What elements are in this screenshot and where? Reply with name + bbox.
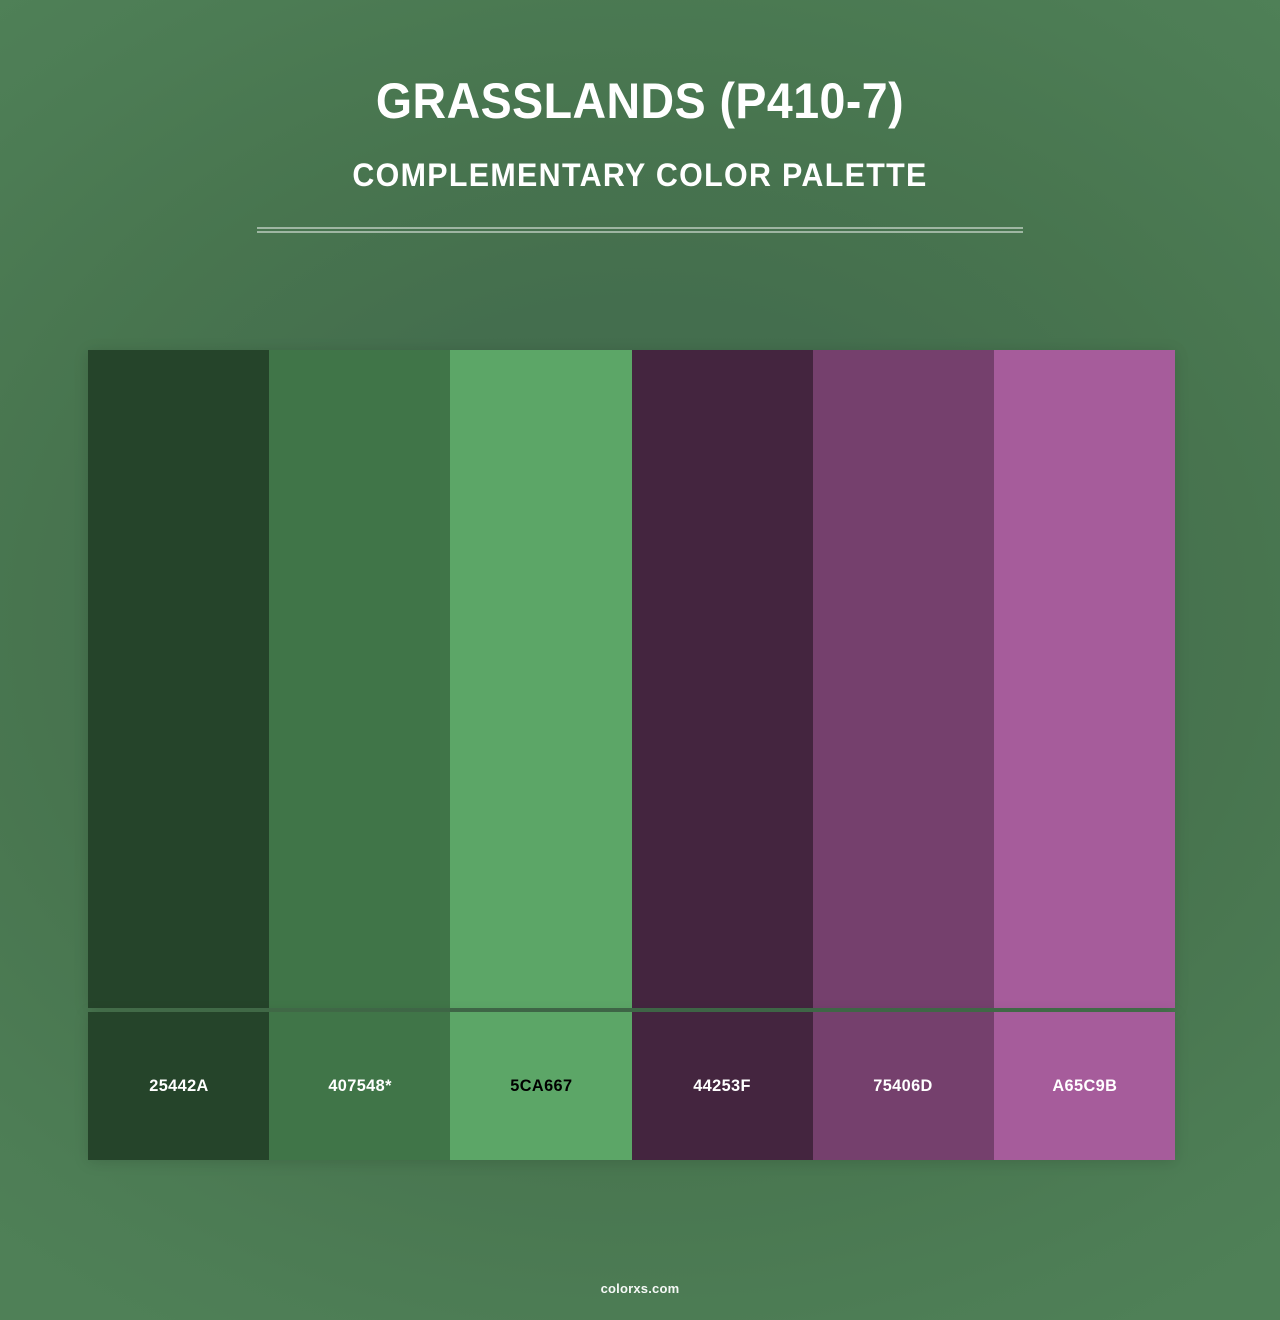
- swatch-row: [88, 350, 1175, 1008]
- swatch-hex-label: A65C9B: [1052, 1076, 1117, 1096]
- header-divider: [257, 227, 1023, 233]
- site-watermark: colorxs.com: [601, 1281, 680, 1296]
- swatch-label-cell[interactable]: 44253F: [632, 1012, 813, 1160]
- swatch-hex-label: 5CA667: [510, 1076, 572, 1096]
- swatch-label-cell[interactable]: 407548*: [269, 1012, 450, 1160]
- page-footer: colorxs.com: [0, 1280, 1280, 1320]
- page-subtitle: COMPLEMENTARY COLOR PALETTE: [32, 130, 1248, 194]
- color-swatch[interactable]: [450, 350, 631, 1008]
- page-title: GRASSLANDS (P410-7): [45, 72, 1235, 130]
- color-swatch[interactable]: [994, 350, 1175, 1008]
- color-swatch[interactable]: [88, 350, 269, 1008]
- palette-page: GRASSLANDS (P410-7) COMPLEMENTARY COLOR …: [0, 0, 1280, 1320]
- swatch-label-cell[interactable]: 5CA667: [450, 1012, 631, 1160]
- swatch-label-cell[interactable]: A65C9B: [994, 1012, 1175, 1160]
- color-swatch[interactable]: [269, 350, 450, 1008]
- swatch-hex-label: 44253F: [693, 1076, 751, 1096]
- swatch-label-cell[interactable]: 25442A: [88, 1012, 269, 1160]
- color-swatch[interactable]: [813, 350, 994, 1008]
- swatch-label-cell[interactable]: 75406D: [813, 1012, 994, 1160]
- swatch-hex-label: 407548*: [328, 1076, 392, 1096]
- page-header: GRASSLANDS (P410-7) COMPLEMENTARY COLOR …: [0, 0, 1280, 233]
- color-swatch[interactable]: [632, 350, 813, 1008]
- swatch-label-row: 25442A 407548* 5CA667 44253F 75406D A65C…: [88, 1012, 1175, 1160]
- swatch-hex-label: 75406D: [874, 1076, 933, 1096]
- swatch-hex-label: 25442A: [149, 1076, 208, 1096]
- color-palette: 25442A 407548* 5CA667 44253F 75406D A65C…: [88, 350, 1175, 1160]
